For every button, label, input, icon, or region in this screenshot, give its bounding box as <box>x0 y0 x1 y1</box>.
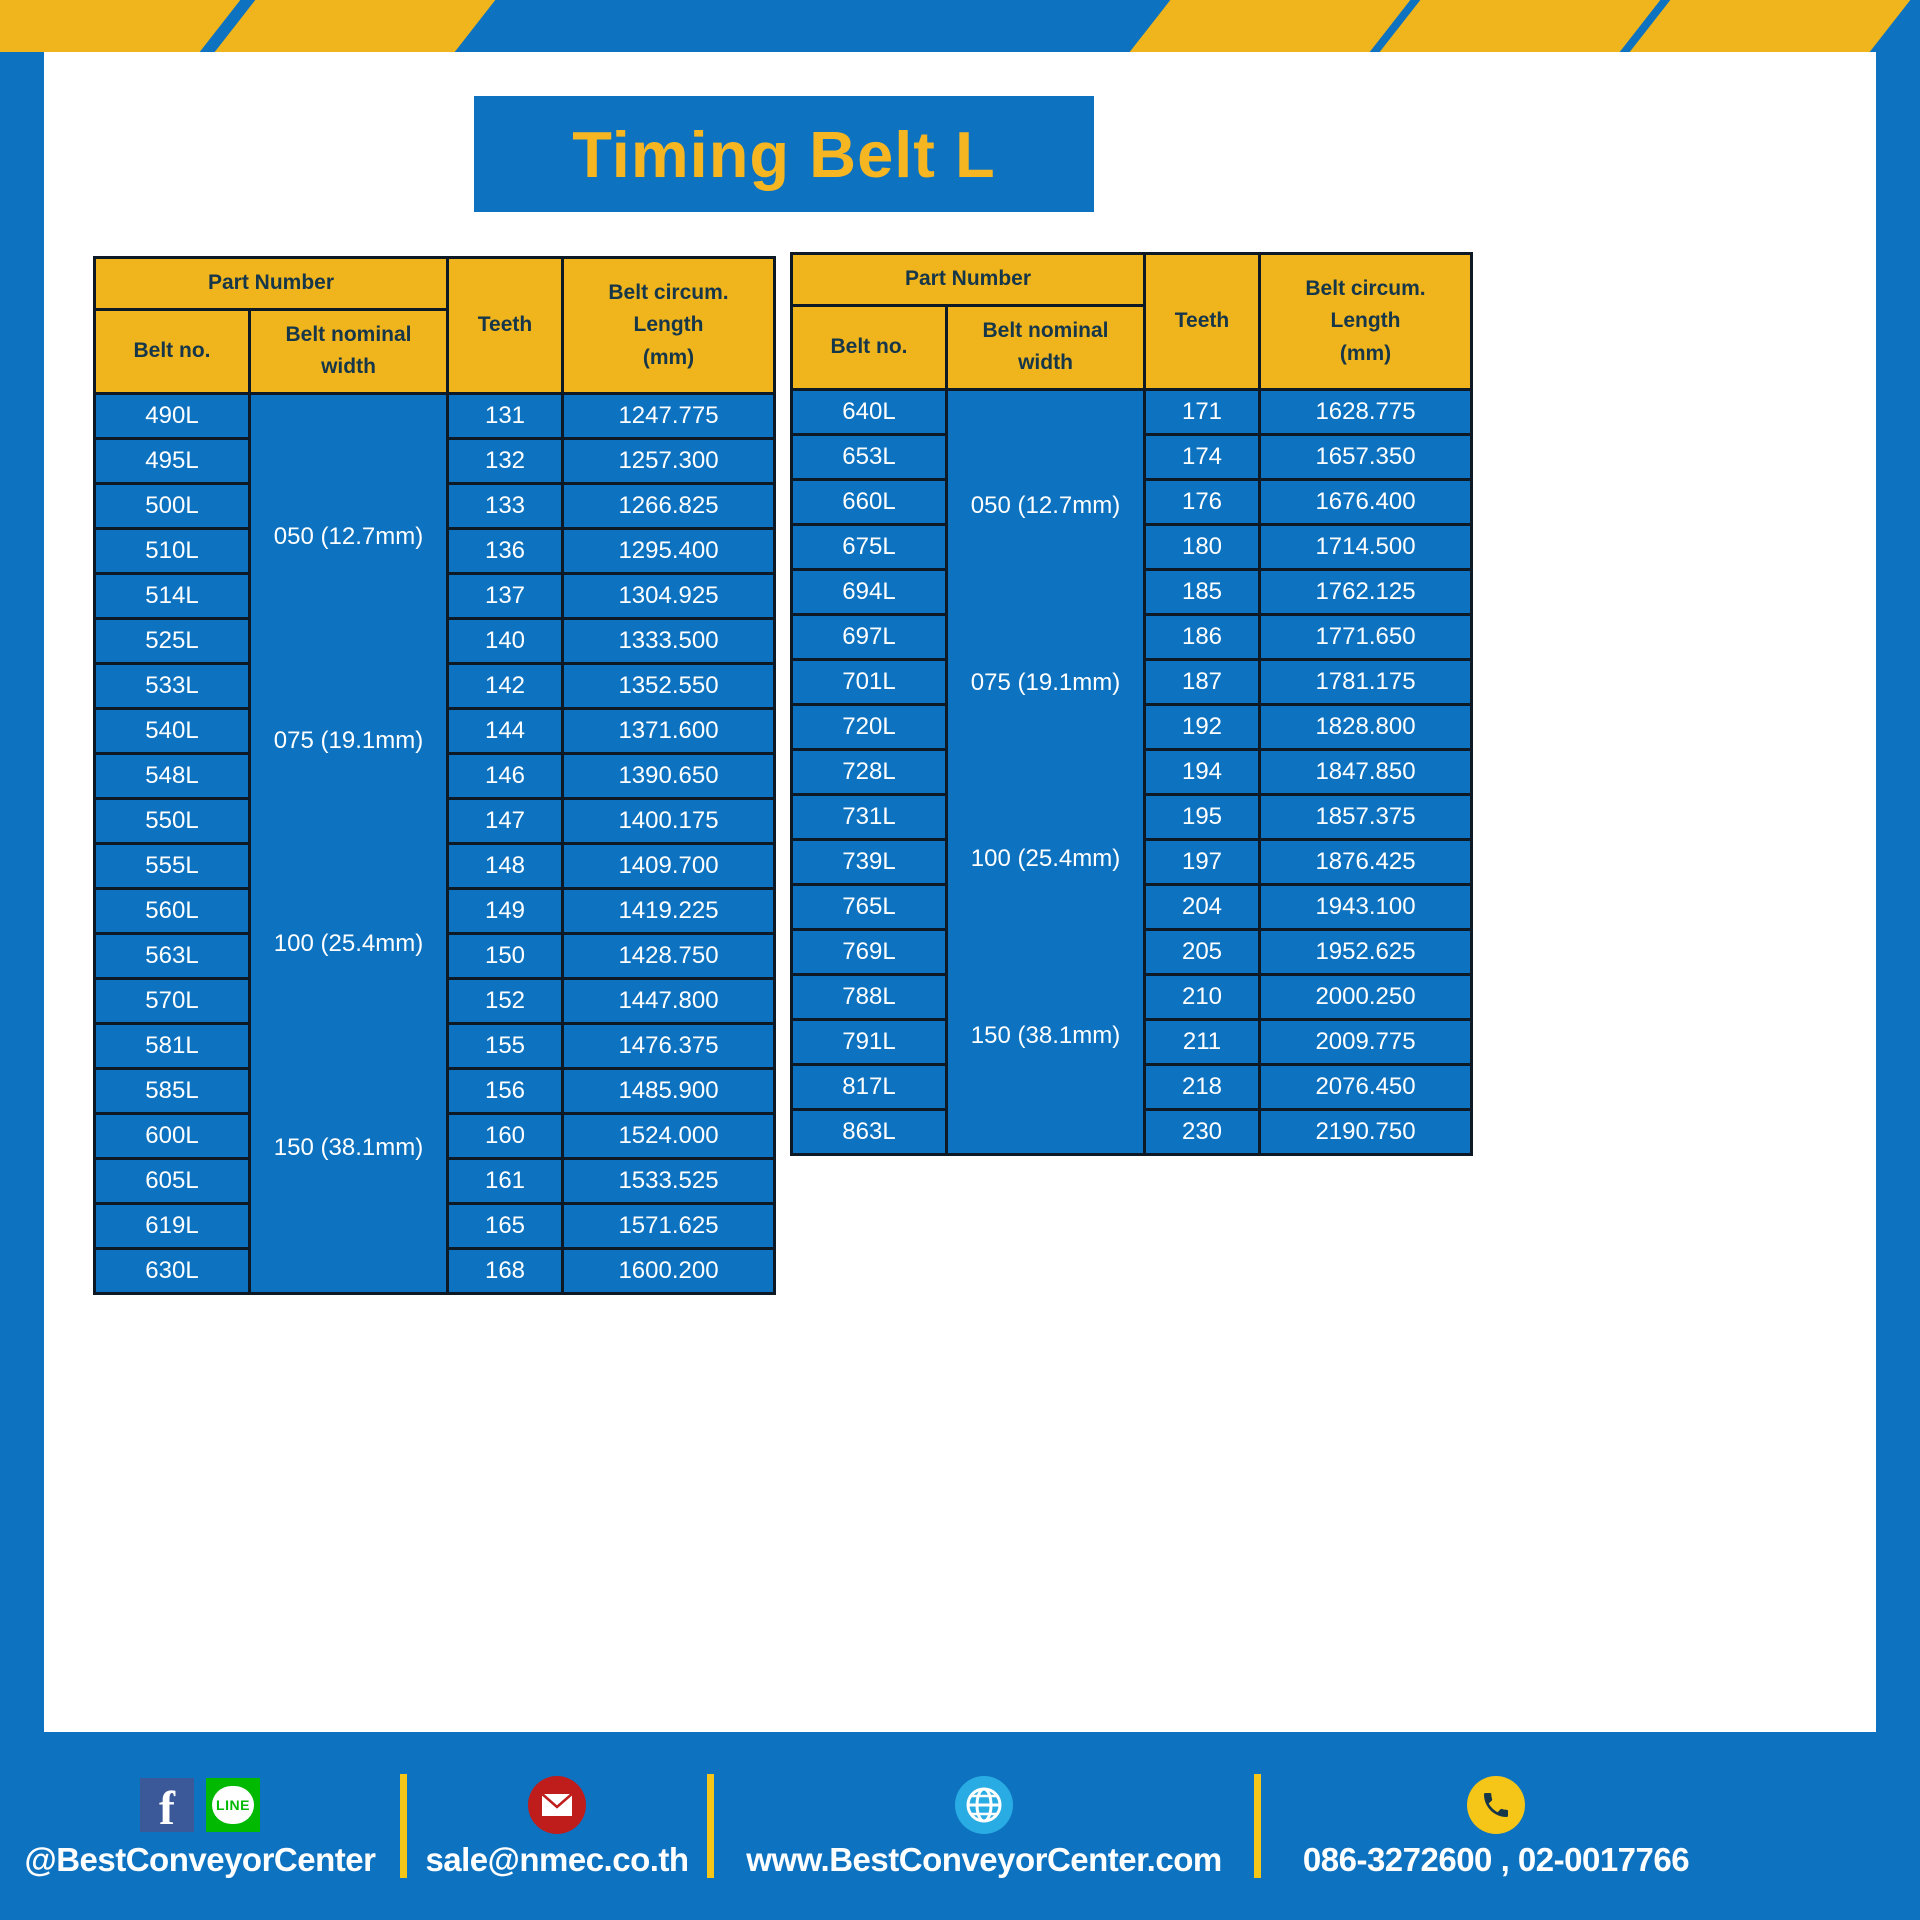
cell-belt-no: 555L <box>95 843 250 888</box>
cell-belt-no: 630L <box>95 1248 250 1293</box>
cell-teeth: 204 <box>1145 884 1260 929</box>
cell-belt-no: 697L <box>792 614 947 659</box>
header-belt-nominal-width: Belt nominal width <box>250 309 448 393</box>
header-belt-circum-line3: (mm) <box>568 342 769 375</box>
header-belt-circum-line3: (mm) <box>1265 338 1466 371</box>
cell-teeth: 230 <box>1145 1109 1260 1154</box>
social-handle-text: @BestConveyorCenter <box>25 1841 376 1879</box>
email-icon-wrap <box>528 1773 586 1837</box>
cell-belt-no: 694L <box>792 569 947 614</box>
cell-length: 1762.125 <box>1260 569 1472 614</box>
cell-length: 1257.300 <box>563 438 775 483</box>
phone-text: 086-3272600 , 02-0017766 <box>1303 1841 1689 1879</box>
footer-divider <box>707 1774 714 1878</box>
cell-belt-no: 560L <box>95 888 250 933</box>
cell-length: 1714.500 <box>1260 524 1472 569</box>
cell-belt-no: 550L <box>95 798 250 843</box>
globe-icon[interactable] <box>955 1776 1013 1834</box>
width-option: 100 (25.4mm) <box>255 882 442 1007</box>
phone-glyph <box>1480 1789 1512 1821</box>
deco-stripe <box>215 0 496 52</box>
cell-teeth: 160 <box>448 1113 563 1158</box>
cell-length: 1266.825 <box>563 483 775 528</box>
cell-length: 1400.175 <box>563 798 775 843</box>
cell-belt-no: 490L <box>95 393 250 438</box>
cell-teeth: 140 <box>448 618 563 663</box>
header-belt-circum-line2: Length <box>568 309 769 342</box>
cell-teeth: 156 <box>448 1068 563 1113</box>
table-body-right: 640L050 (12.7mm)075 (19.1mm)100 (25.4mm)… <box>792 389 1472 1154</box>
phone-icon[interactable] <box>1467 1776 1525 1834</box>
cell-length: 1828.800 <box>1260 704 1472 749</box>
footer-email-segment[interactable]: sale@nmec.co.th <box>407 1773 707 1879</box>
cell-length: 1485.900 <box>563 1068 775 1113</box>
cell-belt-no: 640L <box>792 389 947 434</box>
cell-teeth: 155 <box>448 1023 563 1068</box>
cell-teeth: 186 <box>1145 614 1260 659</box>
cell-teeth: 176 <box>1145 479 1260 524</box>
table-row: 640L050 (12.7mm)075 (19.1mm)100 (25.4mm)… <box>792 389 1472 434</box>
cell-belt-no: 675L <box>792 524 947 569</box>
facebook-glyph: f <box>159 1786 175 1832</box>
cell-teeth: 132 <box>448 438 563 483</box>
cell-belt-no: 563L <box>95 933 250 978</box>
cell-belt-no: 731L <box>792 794 947 839</box>
header-row-top: Part Number Teeth Belt circum. Length (m… <box>95 258 775 310</box>
cell-length: 1952.625 <box>1260 929 1472 974</box>
header-width-line1: Belt nominal <box>952 315 1139 348</box>
cell-belt-no: 720L <box>792 704 947 749</box>
width-option: 100 (25.4mm) <box>952 797 1139 922</box>
cell-belt-no: 739L <box>792 839 947 884</box>
phone-icon-wrap <box>1467 1773 1525 1837</box>
cell-length: 2076.450 <box>1260 1064 1472 1109</box>
cell-belt-no: 817L <box>792 1064 947 1109</box>
cell-teeth: 192 <box>1145 704 1260 749</box>
cell-teeth: 194 <box>1145 749 1260 794</box>
email-icon[interactable] <box>528 1776 586 1834</box>
facebook-icon[interactable]: f <box>140 1778 194 1832</box>
cell-belt-no: 533L <box>95 663 250 708</box>
line-bubble: LINE <box>212 1786 254 1824</box>
cell-length: 1295.400 <box>563 528 775 573</box>
line-icon[interactable]: LINE <box>206 1778 260 1832</box>
line-label: LINE <box>216 1797 250 1813</box>
cell-belt-no: 600L <box>95 1113 250 1158</box>
cell-length: 1857.375 <box>1260 794 1472 839</box>
cell-teeth: 131 <box>448 393 563 438</box>
cell-belt-no: 728L <box>792 749 947 794</box>
cell-belt-no: 540L <box>95 708 250 753</box>
cell-teeth: 150 <box>448 933 563 978</box>
footer-phone-segment[interactable]: 086-3272600 , 02-0017766 <box>1261 1773 1731 1879</box>
cell-length: 1676.400 <box>1260 479 1472 524</box>
header-row-top: Part Number Teeth Belt circum. Length (m… <box>792 254 1472 306</box>
spec-table-left: Part Number Teeth Belt circum. Length (m… <box>93 256 776 1295</box>
width-option: 150 (38.1mm) <box>952 974 1139 1099</box>
deco-stripe <box>0 0 240 52</box>
table-row: 490L050 (12.7mm)075 (19.1mm)100 (25.4mm)… <box>95 393 775 438</box>
cell-belt-no: 605L <box>95 1158 250 1203</box>
cell-belt-no: 660L <box>792 479 947 524</box>
cell-belt-no: 701L <box>792 659 947 704</box>
cell-length: 1352.550 <box>563 663 775 708</box>
cell-teeth: 174 <box>1145 434 1260 479</box>
cell-belt-no: 653L <box>792 434 947 479</box>
cell-teeth: 210 <box>1145 974 1260 1019</box>
deco-stripe <box>1380 0 1661 52</box>
cell-teeth: 136 <box>448 528 563 573</box>
header-teeth: Teeth <box>448 258 563 394</box>
cell-length: 1533.525 <box>563 1158 775 1203</box>
cell-length: 1304.925 <box>563 573 775 618</box>
cell-length: 1419.225 <box>563 888 775 933</box>
cell-length: 1371.600 <box>563 708 775 753</box>
cell-teeth: 195 <box>1145 794 1260 839</box>
deco-stripe <box>1130 0 1411 52</box>
cell-belt-no: 548L <box>95 753 250 798</box>
cell-teeth: 171 <box>1145 389 1260 434</box>
cell-length: 1771.650 <box>1260 614 1472 659</box>
cell-belt-no: 514L <box>95 573 250 618</box>
spec-table-right-wrapper: Part Number Teeth Belt circum. Length (m… <box>790 252 1473 1156</box>
cell-length: 1524.000 <box>563 1113 775 1158</box>
header-belt-circum: Belt circum. Length (mm) <box>1260 254 1472 390</box>
width-option: 075 (19.1mm) <box>952 621 1139 746</box>
spec-table-right: Part Number Teeth Belt circum. Length (m… <box>790 252 1473 1156</box>
cell-teeth: 133 <box>448 483 563 528</box>
cell-belt-no: 769L <box>792 929 947 974</box>
cell-teeth: 211 <box>1145 1019 1260 1064</box>
cell-length: 2190.750 <box>1260 1109 1472 1154</box>
cell-teeth: 165 <box>448 1203 563 1248</box>
cell-teeth: 142 <box>448 663 563 708</box>
footer-website-segment[interactable]: www.BestConveyorCenter.com <box>714 1773 1254 1879</box>
cell-belt-no: 495L <box>95 438 250 483</box>
cell-belt-no: 765L <box>792 884 947 929</box>
page-title: Timing Belt L <box>572 117 995 192</box>
cell-teeth: 218 <box>1145 1064 1260 1109</box>
table-body-left: 490L050 (12.7mm)075 (19.1mm)100 (25.4mm)… <box>95 393 775 1293</box>
header-teeth: Teeth <box>1145 254 1260 390</box>
footer-divider <box>400 1774 407 1878</box>
page-title-banner: Timing Belt L <box>474 96 1094 212</box>
header-width-line2: width <box>255 351 442 384</box>
deco-stripe <box>1630 0 1911 52</box>
cell-teeth: 144 <box>448 708 563 753</box>
header-belt-no: Belt no. <box>792 305 947 389</box>
globe-glyph <box>965 1786 1003 1824</box>
cell-teeth: 161 <box>448 1158 563 1203</box>
cell-belt-no: 619L <box>95 1203 250 1248</box>
width-option: 150 (38.1mm) <box>255 1086 442 1211</box>
top-decoration-stripes <box>0 0 1920 52</box>
header-belt-circum-line1: Belt circum. <box>568 277 769 310</box>
web-icon-wrap <box>955 1773 1013 1837</box>
header-part-number: Part Number <box>792 254 1145 306</box>
header-belt-circum-line1: Belt circum. <box>1265 273 1466 306</box>
cell-length: 1476.375 <box>563 1023 775 1068</box>
cell-length: 1847.850 <box>1260 749 1472 794</box>
cell-teeth: 205 <box>1145 929 1260 974</box>
cell-belt-no: 791L <box>792 1019 947 1064</box>
cell-length: 1247.775 <box>563 393 775 438</box>
cell-belt-no: 510L <box>95 528 250 573</box>
cell-length: 1781.175 <box>1260 659 1472 704</box>
header-part-number: Part Number <box>95 258 448 310</box>
cell-teeth: 146 <box>448 753 563 798</box>
social-icons: f LINE <box>140 1773 260 1837</box>
cell-teeth: 185 <box>1145 569 1260 614</box>
cell-teeth: 187 <box>1145 659 1260 704</box>
cell-teeth: 137 <box>448 573 563 618</box>
cell-belt-nominal-width: 050 (12.7mm)075 (19.1mm)100 (25.4mm)150 … <box>250 393 448 1293</box>
contact-footer: f LINE @BestConveyorCenter sale@nmec.co.… <box>0 1732 1920 1920</box>
cell-length: 1333.500 <box>563 618 775 663</box>
cell-length: 1657.350 <box>1260 434 1472 479</box>
cell-teeth: 149 <box>448 888 563 933</box>
spec-table-left-wrapper: Part Number Teeth Belt circum. Length (m… <box>93 256 776 1295</box>
cell-length: 1943.100 <box>1260 884 1472 929</box>
cell-belt-nominal-width: 050 (12.7mm)075 (19.1mm)100 (25.4mm)150 … <box>947 389 1145 1154</box>
cell-length: 2009.775 <box>1260 1019 1472 1064</box>
width-option: 075 (19.1mm) <box>255 679 442 804</box>
envelope-glyph <box>540 1792 574 1818</box>
cell-teeth: 180 <box>1145 524 1260 569</box>
header-belt-circum-line2: Length <box>1265 305 1466 338</box>
cell-length: 1390.650 <box>563 753 775 798</box>
header-belt-nominal-width: Belt nominal width <box>947 305 1145 389</box>
cell-teeth: 152 <box>448 978 563 1023</box>
table-header-left: Part Number Teeth Belt circum. Length (m… <box>95 258 775 394</box>
cell-teeth: 148 <box>448 843 563 888</box>
width-option: 050 (12.7mm) <box>255 475 442 600</box>
cell-belt-no: 581L <box>95 1023 250 1068</box>
cell-belt-no: 525L <box>95 618 250 663</box>
cell-length: 1628.775 <box>1260 389 1472 434</box>
cell-belt-no: 570L <box>95 978 250 1023</box>
width-option: 050 (12.7mm) <box>952 444 1139 569</box>
cell-length: 1571.625 <box>563 1203 775 1248</box>
footer-social-segment[interactable]: f LINE @BestConveyorCenter <box>0 1773 400 1879</box>
cell-length: 1447.800 <box>563 978 775 1023</box>
cell-length: 1409.700 <box>563 843 775 888</box>
cell-length: 1876.425 <box>1260 839 1472 884</box>
cell-length: 1428.750 <box>563 933 775 978</box>
header-belt-no: Belt no. <box>95 309 250 393</box>
header-width-line1: Belt nominal <box>255 319 442 352</box>
cell-belt-no: 863L <box>792 1109 947 1154</box>
email-text: sale@nmec.co.th <box>425 1841 688 1879</box>
table-header-right: Part Number Teeth Belt circum. Length (m… <box>792 254 1472 390</box>
cell-belt-no: 585L <box>95 1068 250 1113</box>
cell-teeth: 197 <box>1145 839 1260 884</box>
website-text: www.BestConveyorCenter.com <box>746 1841 1221 1879</box>
cell-length: 2000.250 <box>1260 974 1472 1019</box>
cell-teeth: 168 <box>448 1248 563 1293</box>
header-belt-circum: Belt circum. Length (mm) <box>563 258 775 394</box>
cell-teeth: 147 <box>448 798 563 843</box>
footer-divider <box>1254 1774 1261 1878</box>
header-width-line2: width <box>952 347 1139 380</box>
cell-belt-no: 788L <box>792 974 947 1019</box>
cell-length: 1600.200 <box>563 1248 775 1293</box>
cell-belt-no: 500L <box>95 483 250 528</box>
